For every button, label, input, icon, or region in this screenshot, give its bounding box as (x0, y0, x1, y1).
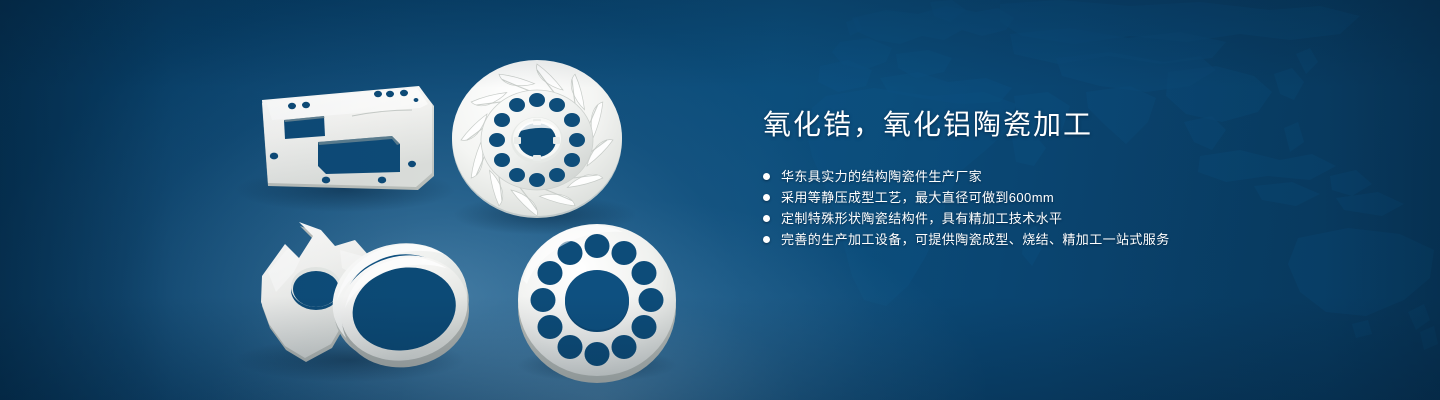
bullet-dot-icon (763, 236, 770, 243)
list-item-label: 华东具实力的结构陶瓷件生产厂家 (781, 166, 982, 187)
list-item-label: 定制特殊形状陶瓷结构件，具有精加工技术水平 (781, 208, 1062, 229)
list-item-label: 采用等静压成型工艺，最大直径可做到600mm (781, 187, 1054, 208)
bullet-dot-icon (763, 173, 770, 180)
feature-list: 华东具实力的结构陶瓷件生产厂家 采用等静压成型工艺，最大直径可做到600mm 定… (763, 166, 1323, 250)
list-item: 完善的生产加工设备，可提供陶瓷成型、烧结、精加工一站式服务 (763, 229, 1323, 250)
list-item-label: 完善的生产加工设备，可提供陶瓷成型、烧结、精加工一站式服务 (781, 229, 1170, 250)
page-title: 氧化锆，氧化铝陶瓷加工 (763, 108, 1323, 142)
bullet-dot-icon (763, 215, 770, 222)
list-item: 定制特殊形状陶瓷结构件，具有精加工技术水平 (763, 208, 1323, 229)
bullet-dot-icon (763, 194, 770, 201)
list-item: 采用等静压成型工艺，最大直径可做到600mm (763, 187, 1323, 208)
banner-copy: 氧化锆，氧化铝陶瓷加工 华东具实力的结构陶瓷件生产厂家 采用等静压成型工艺，最大… (763, 108, 1323, 250)
list-item: 华东具实力的结构陶瓷件生产厂家 (763, 166, 1323, 187)
banner: 氧化锆，氧化铝陶瓷加工 华东具实力的结构陶瓷件生产厂家 采用等静压成型工艺，最大… (0, 0, 1440, 400)
